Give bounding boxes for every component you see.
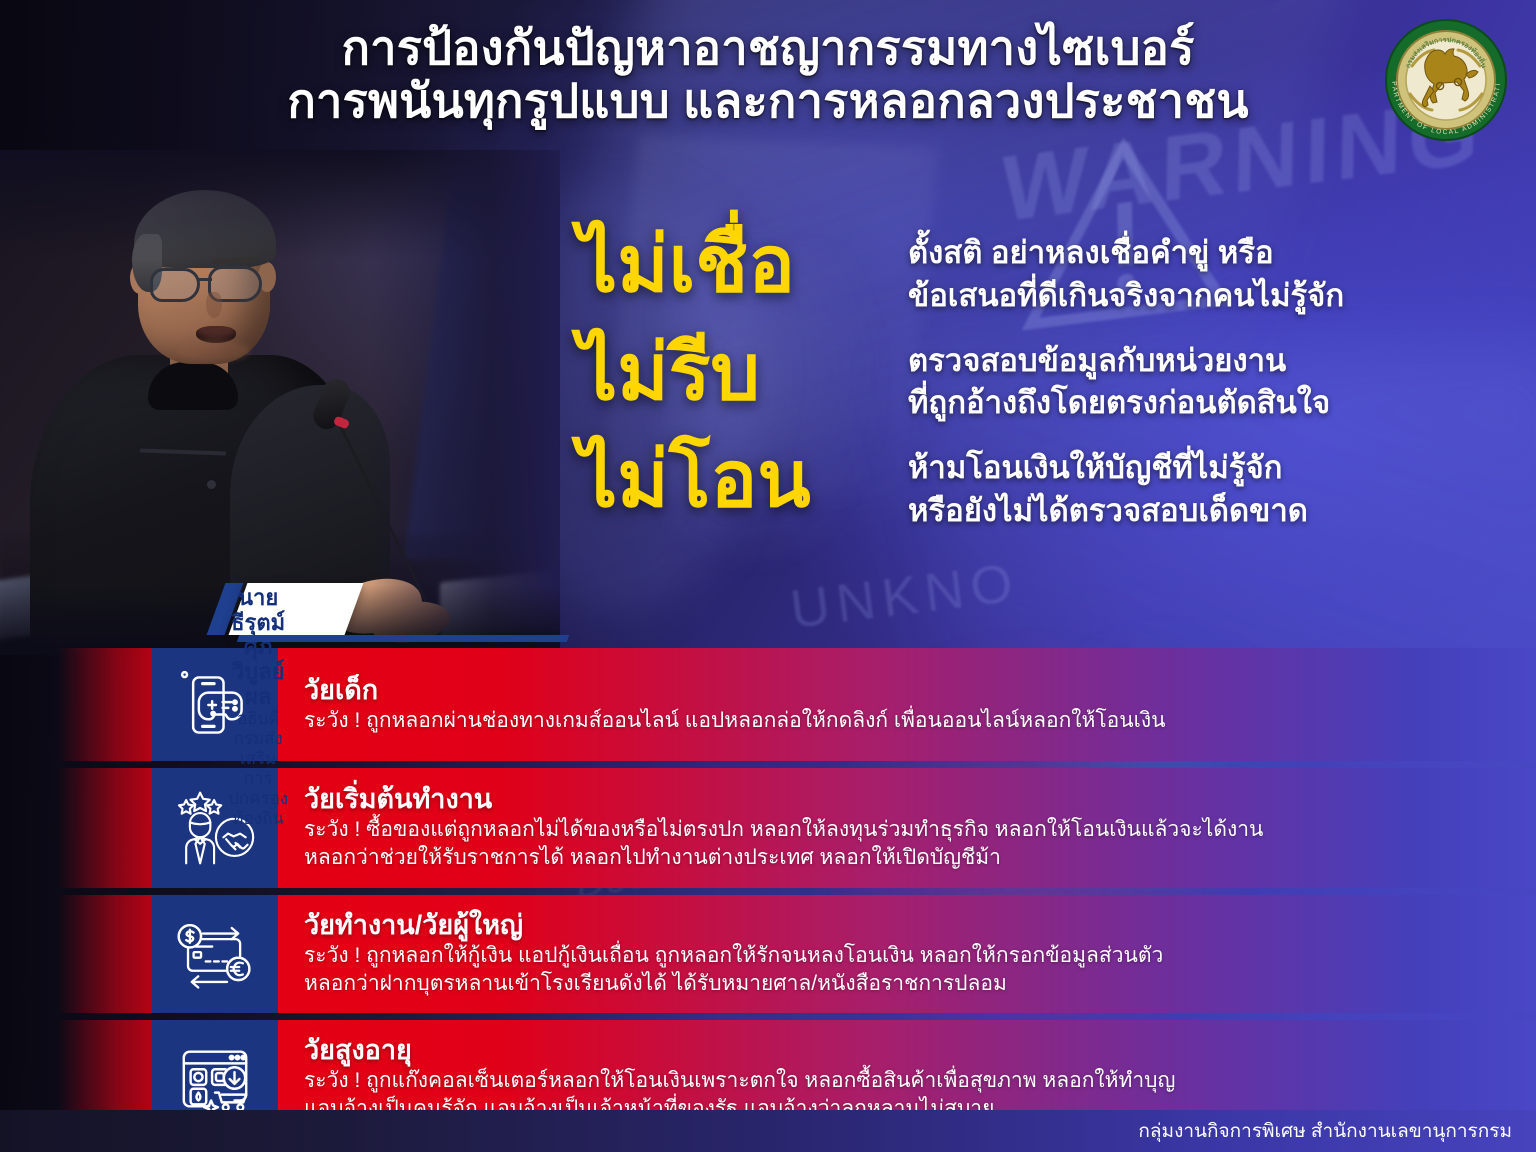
photo-suit-button-bottom <box>207 480 216 489</box>
slogan-block: ไม่เชื่อ ตั้งสติ อย่าหลงเชื่อคำขู่ หรือ … <box>578 222 1498 541</box>
row-icon-box <box>152 895 278 1013</box>
slogan-row: ไม่โอน ห้ามโอนเงินให้บัญชีที่ไม่รู้จัก ห… <box>578 437 1498 533</box>
row-text: วัยทำงาน/วัยผู้ใหญ่ ระวัง ! ถูกหลอกให้กู… <box>278 895 1536 1013</box>
department-of-local-administration-seal-icon: กรมส่งเสริมการปกครองท้องถิ่น DEPARTMENT … <box>1382 16 1510 144</box>
page-footer: กลุ่มงานกิจการพิเศษ สำนักงานเลขานุการกรม <box>0 1110 1536 1152</box>
footer-credit: กลุ่มงานกิจการพิเศษ สำนักงานเลขานุการกรม <box>1138 1116 1512 1146</box>
slogan-description: ตั้งสติ อย่าหลงเชื่อคำขู่ หรือ ข้อเสนอที… <box>908 222 1498 318</box>
row-text: วัยเริ่มต้นทำงาน ระวัง ! ซื้อของแต่ถูกหล… <box>278 768 1536 888</box>
photo-eyeglass-bridge <box>198 278 212 281</box>
slogan-keyword: ไม่โอน <box>578 437 908 521</box>
slogan-description: ห้ามโอนเงินให้บัญชีที่ไม่รู้จัก หรือยังไ… <box>908 437 1498 533</box>
slogan-description-line-1: ห้ามโอนเงินให้บัญชีที่ไม่รู้จัก <box>908 447 1498 490</box>
slogan-row: ไม่รีบ ตรวจสอบข้อมูลกับหน่วยงาน ที่ถูกอ้… <box>578 330 1498 426</box>
photo-fade-right <box>370 150 560 655</box>
slogan-description-line-2: ข้อเสนอที่ดีเกินจริงจากคนไม่รู้จัก <box>908 275 1498 318</box>
nameplate-underline <box>237 635 570 642</box>
row-description-line-1: ระวัง ! ถูกหลอกให้กู้เงิน แอปกู้เงินเถื่… <box>304 942 1512 970</box>
slogan-description-line-2: ที่ถูกอ้างถึงโดยตรงก่อนตัดสินใจ <box>908 382 1498 425</box>
nameplate-box: นายธีรุตม์ ศุภวิบูลย์ผล อธิบดีกรมส่งเสริ… <box>229 583 364 635</box>
row-description: ระวัง ! ซื้อของแต่ถูกหลอกไม่ได้ของหรือไม… <box>304 816 1512 871</box>
photo-chin <box>176 340 250 362</box>
money-transfer-card-icon <box>175 914 255 994</box>
slogan-keyword: ไม่เชื่อ <box>578 222 908 306</box>
slogan-description: ตรวจสอบข้อมูลกับหน่วยงาน ที่ถูกอ้างถึงโด… <box>908 330 1498 426</box>
speaker-role: อธิบดีกรมส่งเสริมการปกครองท้องถิ่น <box>228 709 288 829</box>
row-title: วัยสูงอายุ <box>304 1035 1512 1067</box>
online-shopping-browser-icon <box>176 1040 254 1118</box>
slogan-keyword: ไม่รีบ <box>578 330 908 414</box>
photo-suit-collar <box>148 362 238 410</box>
row-description-line-2: หลอกว่าช่วยให้รับราชการได้ หลอกไปทำงานต่… <box>304 844 1512 872</box>
slogan-description-line-2: หรือยังไม่ได้ตรวจสอบเด็ดขาด <box>908 490 1498 533</box>
slogan-description-line-1: ตั้งสติ อย่าหลงเชื่อคำขู่ หรือ <box>908 232 1498 275</box>
row-title: วัยเริ่มต้นทำงาน <box>304 784 1512 816</box>
speaker-photo <box>0 150 560 655</box>
row-description: ระวัง ! ถูกหลอกผ่านช่องทางเกมส์ออนไลน์ แ… <box>304 707 1512 735</box>
slogan-row: ไม่เชื่อ ตั้งสติ อย่าหลงเชื่อคำขู่ หรือ … <box>578 222 1498 318</box>
row-title: วัยเด็ก <box>304 675 1512 707</box>
row-text: วัยเด็ก ระวัง ! ถูกหลอกผ่านช่องทางเกมส์อ… <box>278 648 1536 761</box>
photo-eyeglass-left <box>150 268 200 302</box>
photo-nose <box>206 292 222 318</box>
row-description-line-1: ระวัง ! ถูกหลอกผ่านช่องทางเกมส์ออนไลน์ แ… <box>304 707 1512 735</box>
speaker-name: นายธีรุตม์ ศุภวิบูลย์ผล <box>228 586 288 709</box>
row-description: ระวัง ! ถูกหลอกให้กู้เงิน แอปกู้เงินเถื่… <box>304 942 1512 997</box>
row-description-line-2: หลอกว่าฝากบุตรหลานเข้าโรงเรียนดังได้ ได้… <box>304 970 1512 998</box>
slogan-description-line-1: ตรวจสอบข้อมูลกับหน่วยงาน <box>908 340 1498 383</box>
age-group-row: วัยทำงาน/วัยผู้ใหญ่ ระวัง ! ถูกหลอกให้กู… <box>0 895 1536 1013</box>
row-title: วัยทำงาน/วัยผู้ใหญ่ <box>304 910 1512 942</box>
row-description-line-1: ระวัง ! ซื้อของแต่ถูกหลอกไม่ได้ของหรือไม… <box>304 816 1512 844</box>
row-description-line-1: ระวัง ! ถูกแก๊งคอลเซ็นเตอร์หลอกให้โอนเงิ… <box>304 1067 1512 1095</box>
